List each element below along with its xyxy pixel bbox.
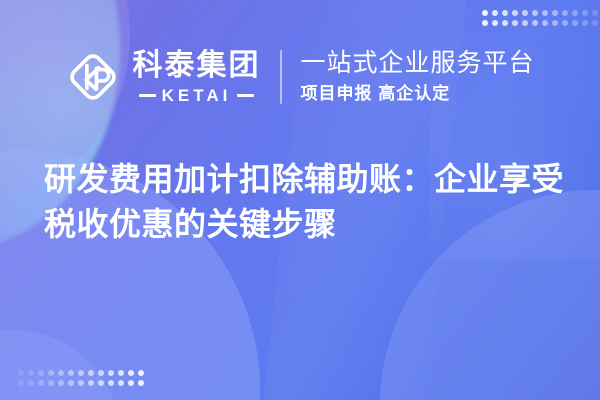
decorative-dot <box>98 380 104 386</box>
decorative-dot <box>522 10 528 16</box>
decorative-dot <box>78 380 84 386</box>
decorative-dot <box>98 370 104 376</box>
decorative-dot <box>28 370 34 376</box>
decorative-dot <box>552 20 558 26</box>
decorative-dot <box>482 20 488 26</box>
decorative-dot <box>542 10 548 16</box>
decorative-dot <box>562 20 568 26</box>
decorative-dot <box>118 370 124 376</box>
decorative-dot <box>38 380 44 386</box>
decorative-dot <box>572 20 578 26</box>
decorative-dot <box>88 380 94 386</box>
brand-wordmark: 科泰集团 KETAI <box>132 51 260 104</box>
decorative-dot <box>18 370 24 376</box>
banner-header: 科泰集团 KETAI 一站式企业服务平台 项目申报 高企认定 <box>0 42 600 112</box>
slogan-block: 一站式企业服务平台 项目申报 高企认定 <box>300 50 534 104</box>
decorative-dot <box>552 10 558 16</box>
company-name-en: KETAI <box>162 87 232 104</box>
decorative-dot <box>492 10 498 16</box>
company-name-cn: 科泰集团 <box>132 51 260 81</box>
dot-grid-top-right <box>482 10 600 26</box>
decorative-dot <box>582 10 588 16</box>
decorative-dot <box>138 370 144 376</box>
left-rule <box>139 94 156 97</box>
decorative-dot <box>592 10 598 16</box>
decorative-dot <box>512 20 518 26</box>
decorative-dot <box>48 380 54 386</box>
brand-lockup: 科泰集团 KETAI <box>65 49 260 105</box>
right-rule <box>237 94 254 97</box>
dot-row <box>482 10 600 16</box>
decorative-dot <box>542 20 548 26</box>
decorative-dot <box>128 370 134 376</box>
dot-row <box>18 380 144 386</box>
decorative-dot <box>68 370 74 376</box>
ketai-diamond-kp-logo-icon <box>65 49 121 105</box>
decorative-dot <box>38 370 44 376</box>
decorative-dot <box>572 10 578 16</box>
dot-grid-bottom-left <box>18 370 144 386</box>
decorative-dot <box>482 10 488 16</box>
dot-row <box>18 370 144 376</box>
decorative-dot <box>108 380 114 386</box>
page-title: 研发费用加计扣除辅助账：企业享受税收优惠的关键步骤 <box>44 157 564 248</box>
decorative-dot <box>582 20 588 26</box>
decorative-dot <box>562 10 568 16</box>
decorative-dot <box>108 370 114 376</box>
decorative-dot <box>28 380 34 386</box>
decorative-dot <box>502 10 508 16</box>
decorative-dot <box>78 370 84 376</box>
decorative-dot <box>88 370 94 376</box>
dot-row <box>482 20 600 26</box>
decorative-dot <box>592 20 598 26</box>
decorative-dot <box>58 380 64 386</box>
promotional-banner: 科泰集团 KETAI 一站式企业服务平台 项目申报 高企认定 研发费用加计扣除辅… <box>0 0 600 400</box>
decorative-dot <box>522 20 528 26</box>
decorative-dot <box>532 10 538 16</box>
decorative-dot <box>18 380 24 386</box>
company-name-en-row: KETAI <box>139 87 255 104</box>
decorative-dot <box>58 370 64 376</box>
decorative-dot <box>532 20 538 26</box>
decorative-dot <box>118 380 124 386</box>
slogan-sub-text: 项目申报 高企认定 <box>300 84 534 104</box>
decorative-dot <box>48 370 54 376</box>
decorative-dot <box>492 20 498 26</box>
slogan-main-text: 一站式企业服务平台 <box>300 50 534 78</box>
decorative-dot <box>138 380 144 386</box>
decorative-dot <box>68 380 74 386</box>
left-small-circle-shape <box>0 330 120 400</box>
decorative-dot <box>502 20 508 26</box>
header-divider <box>280 50 282 104</box>
decorative-dot <box>128 380 134 386</box>
decorative-dot <box>512 10 518 16</box>
